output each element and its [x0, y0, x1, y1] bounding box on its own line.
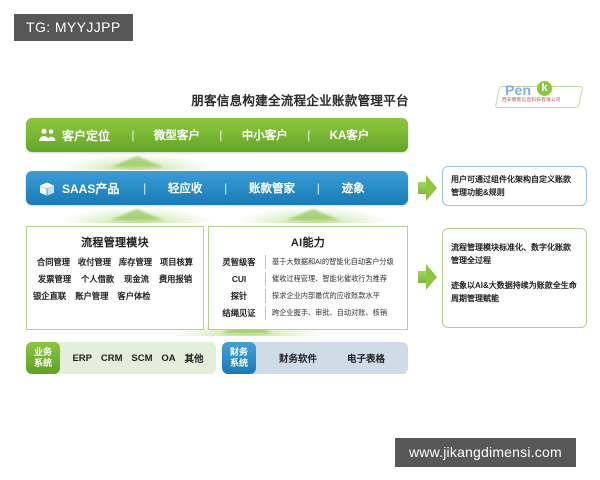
- bar-separator: |: [200, 128, 242, 142]
- bar-item-account-butler[interactable]: 账款管家: [249, 180, 295, 196]
- callout-green-group: 流程管理模块标准化、数字化账款管理全过程 迹象以AI&大数据持续为账款全生命周期…: [442, 228, 587, 328]
- callout-component-architecture: 用户可通过组件化架构自定义账款管理功能&规则: [442, 166, 587, 206]
- bar-separator: |: [121, 181, 168, 195]
- flow-item[interactable]: 费用报销: [159, 273, 192, 285]
- finance-system-items: 财务软件 电子表格: [256, 351, 408, 365]
- bar-item-trace[interactable]: 迹象: [342, 180, 365, 196]
- business-system-items: ERP CRM SCM OA 其他: [60, 351, 216, 365]
- bar-separator: |: [202, 181, 249, 195]
- ai-rows: 灵智级客 基于大数据和AI的智能化自动客户分级 CUI 催收过程管理、智能化催收…: [209, 254, 407, 320]
- callout-text: 迹象以AI&大数据持续为账款全生命周期管理赋能: [443, 279, 586, 305]
- flow-item[interactable]: 发票管理: [38, 273, 71, 285]
- finance-system-tag: 财务 系统: [222, 342, 256, 374]
- system-item-erp[interactable]: ERP: [72, 353, 92, 364]
- flow-row: 银企直联 账户管理 客户体检: [27, 290, 203, 302]
- logo-subtitle: 西安朋客信息科技有限公司: [502, 97, 561, 103]
- flow-management-panel: 流程管理模块 合同管理 收付管理 库存管理 项目核算 发票管理 个人借款 现金流…: [26, 226, 204, 330]
- ai-value: 跨企业握手、审批、自动对账、核销: [265, 306, 401, 320]
- bar-separator: |: [295, 181, 342, 195]
- ai-key: 探针: [213, 290, 265, 302]
- connector-chevron-up: [62, 154, 212, 170]
- connector-chevron-up: [62, 207, 212, 223]
- company-logo: Pen k 西安朋客信息科技有限公司: [495, 78, 587, 112]
- bar-separator: |: [288, 128, 330, 142]
- tag-line-1: 财务: [230, 347, 248, 358]
- finance-system-row: 财务 系统 财务软件 电子表格: [222, 342, 408, 374]
- flow-item[interactable]: 库存管理: [119, 256, 152, 268]
- ai-capability-panel: AI能力 灵智级客 基于大数据和AI的智能化自动客户分级 CUI 催收过程管理、…: [208, 226, 408, 330]
- business-system-tag: 业务 系统: [26, 342, 60, 374]
- flow-item[interactable]: 账户管理: [75, 290, 108, 302]
- business-system-row: 业务 系统 ERP CRM SCM OA 其他: [26, 342, 216, 374]
- ai-key: 结绳见证: [213, 307, 265, 319]
- bar-head-label: 客户定位: [62, 127, 110, 144]
- system-item-other[interactable]: 其他: [185, 351, 204, 365]
- tag-line-2: 系统: [230, 358, 248, 369]
- system-item-spreadsheet[interactable]: 电子表格: [347, 351, 385, 365]
- saas-product-bar[interactable]: SAAS产品 | 轻应收 | 账款管家 | 迹象: [26, 171, 408, 205]
- system-item-crm[interactable]: CRM: [101, 353, 123, 364]
- ai-value: 催收过程管理、智能化催收行为推荐: [265, 272, 401, 286]
- callout-text: 用户可通过组件化架构自定义账款管理功能&规则: [443, 173, 586, 199]
- callout-text: 流程管理模块标准化、数字化账款管理全过程: [443, 241, 586, 267]
- box-icon: [32, 180, 62, 197]
- logo-wordmark: Pen: [505, 82, 531, 98]
- system-item-oa[interactable]: OA: [161, 353, 175, 364]
- slide-canvas: TG: MYYJJPP 朋客信息构建全流程企业账款管理平台 Pen k 西安朋客…: [0, 0, 600, 480]
- panel-title: AI能力: [209, 234, 407, 250]
- system-item-finance-software[interactable]: 财务软件: [279, 351, 317, 365]
- flow-item[interactable]: 现金流: [124, 273, 149, 285]
- panel-title: 流程管理模块: [27, 234, 203, 250]
- bar-item-light-receivable[interactable]: 轻应收: [168, 180, 203, 196]
- flow-item[interactable]: 客户体检: [117, 290, 150, 302]
- flow-item[interactable]: 收付管理: [78, 256, 111, 268]
- system-item-scm[interactable]: SCM: [131, 353, 152, 364]
- bar-separator: |: [112, 128, 154, 142]
- right-arrow-icon: [418, 264, 436, 290]
- tag-line-2: 系统: [34, 358, 52, 369]
- flow-row: 合同管理 收付管理 库存管理 项目核算: [27, 256, 203, 268]
- ai-key: 灵智级客: [213, 256, 265, 268]
- right-arrow-icon: [418, 175, 436, 201]
- ai-row: 探针 探求企业内部最优的应收账款水平: [213, 288, 401, 303]
- ai-row: 灵智级客 基于大数据和AI的智能化自动客户分级: [213, 254, 401, 269]
- ai-value: 基于大数据和AI的智能化自动客户分级: [265, 255, 401, 269]
- people-icon: [32, 127, 62, 143]
- tg-tag: TG: MYYJJPP: [14, 14, 133, 41]
- bar-item-sme[interactable]: 中小客户: [242, 127, 288, 143]
- ai-value: 探求企业内部最优的应收账款水平: [265, 289, 401, 303]
- flow-row: 发票管理 个人借款 现金流 费用报销: [27, 273, 203, 285]
- tag-line-1: 业务: [34, 347, 52, 358]
- flow-item[interactable]: 合同管理: [37, 256, 70, 268]
- ai-row: CUI 催收过程管理、智能化催收行为推荐: [213, 271, 401, 286]
- flow-item[interactable]: 银企直联: [33, 290, 66, 302]
- logo-badge-icon: k: [537, 81, 552, 96]
- bar-item-ka[interactable]: KA客户: [330, 127, 370, 143]
- ai-row: 结绳见证 跨企业握手、审批、自动对账、核销: [213, 305, 401, 320]
- bar-item-micro[interactable]: 微型客户: [154, 127, 200, 143]
- customer-positioning-bar[interactable]: 客户定位 | 微型客户 | 中小客户 | KA客户: [26, 118, 408, 152]
- bar-head-label: SAAS产品: [62, 180, 119, 197]
- watermark: www.jikangdimensi.com: [395, 438, 576, 467]
- flow-item[interactable]: 项目核算: [160, 256, 193, 268]
- ai-key: CUI: [213, 274, 265, 284]
- flow-item[interactable]: 个人借款: [81, 273, 114, 285]
- connector-chevron-up: [238, 207, 388, 223]
- flow-items: 合同管理 收付管理 库存管理 项目核算 发票管理 个人借款 现金流 费用报销 银…: [27, 256, 203, 302]
